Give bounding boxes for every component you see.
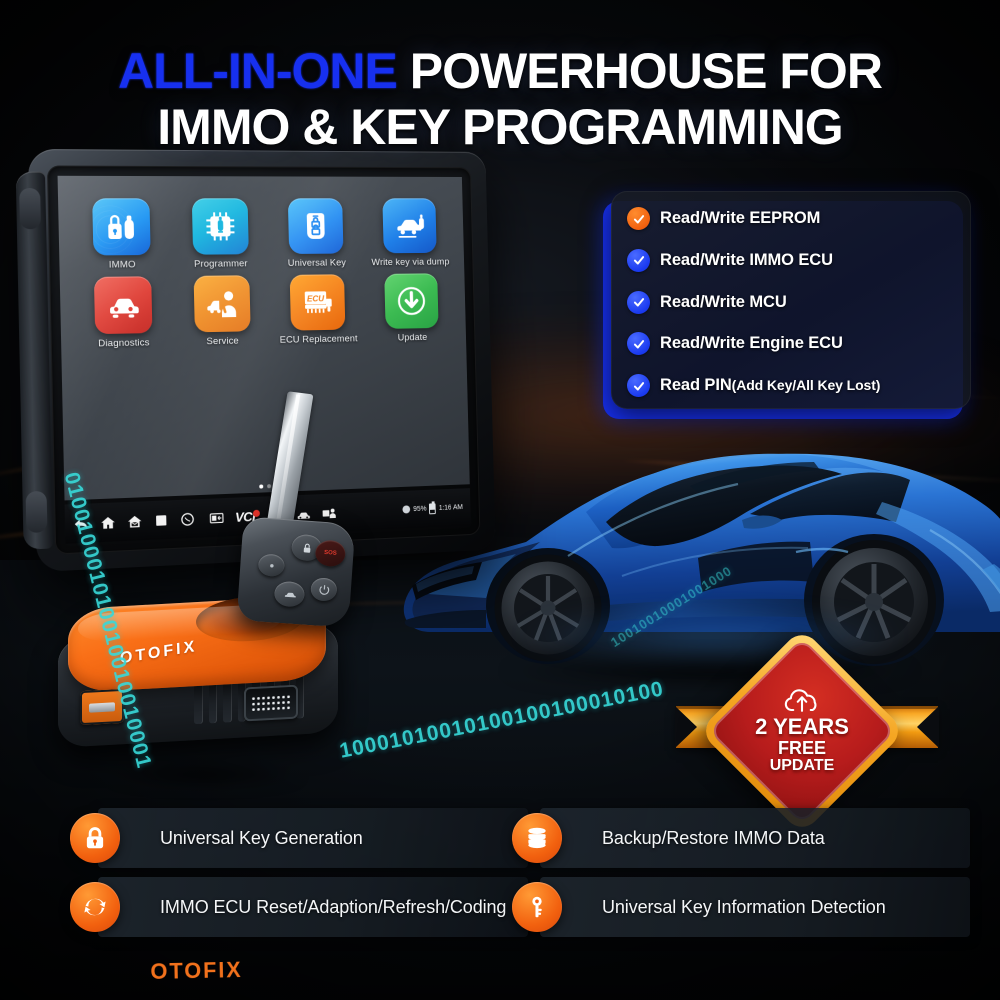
check-icon <box>627 374 650 397</box>
clock-label: 1:16 AM <box>439 504 463 512</box>
device-led-indicator <box>214 628 228 633</box>
feature-box-backup-restore-immo-data: Backup/Restore IMMO Data <box>540 808 970 868</box>
check-icon <box>627 249 650 272</box>
home-icon[interactable] <box>100 514 116 530</box>
battery-icon <box>429 503 436 514</box>
badge-diamond-body <box>709 638 896 825</box>
navbar-left-group <box>73 511 195 532</box>
feature-box-label: Universal Key Generation <box>160 828 363 848</box>
fob-remote-start-button[interactable] <box>310 577 338 602</box>
capability-label-main: Read PIN <box>660 376 732 394</box>
capability-label: Read/Write MCU <box>660 293 787 312</box>
capability-item: Read PIN(Add Key/All Key Lost) <box>627 374 957 397</box>
bottom-feature-grid: Universal Key Generation Backup/Restore … <box>98 808 970 958</box>
capability-item: Read/Write IMMO ECU <box>627 249 957 272</box>
shield-icon[interactable] <box>180 511 195 527</box>
database-icon <box>512 813 562 863</box>
fob-unlock-button[interactable] <box>258 553 285 577</box>
capability-label: Read/Write IMMO ECU <box>660 251 833 270</box>
capability-item: Read/Write EEPROM <box>627 207 957 230</box>
svg-text:ECU: ECU <box>307 293 325 303</box>
panel-card: Read/Write EEPROM Read/Write IMMO ECU Re… <box>611 191 971 409</box>
app-write-key-via-dump[interactable]: Write key via dump <box>366 198 453 268</box>
app-service[interactable]: Service <box>176 275 267 348</box>
check-icon <box>627 291 650 314</box>
padlock-icon <box>70 813 120 863</box>
capability-item: Read/Write MCU <box>627 291 957 314</box>
battery-percent-label: 95% <box>413 505 426 512</box>
app-label: Programmer <box>176 258 266 270</box>
capability-item: Read/Write Engine ECU <box>627 332 957 355</box>
app-immo[interactable]: IMMO <box>75 198 168 271</box>
feature-box-immo-ecu-reset: IMMO ECU Reset/Adaption/Refresh/Coding <box>98 877 528 937</box>
camera-toggle-icon[interactable] <box>209 510 224 526</box>
key-fob-head: SOS <box>237 516 356 628</box>
app-grid: IMMO <box>75 198 455 350</box>
app-label: Universal Key <box>273 257 360 269</box>
feature-box-label: IMMO ECU Reset/Adaption/Refresh/Coding <box>160 897 506 917</box>
refresh-cycle-icon <box>70 882 120 932</box>
capability-label: Read PIN(Add Key/All Key Lost) <box>660 376 880 395</box>
app-programmer[interactable]: Programmer <box>174 198 265 270</box>
headline-line1-rest: POWERHOUSE FOR <box>410 43 882 99</box>
back-arrow-icon[interactable] <box>73 515 89 531</box>
capability-panel: Read/Write EEPROM Read/Write IMMO ECU Re… <box>611 191 971 409</box>
navbar-status-group: 95% 1:16 AM <box>403 502 463 515</box>
car-key-write-icon <box>382 198 436 253</box>
check-icon <box>627 332 650 355</box>
headline-line2: IMMO & KEY PROGRAMMING <box>0 104 1000 152</box>
app-label: ECU Replacement <box>275 333 362 346</box>
key-icon <box>512 882 562 932</box>
promo-banner: ALL-IN-ONE POWERHOUSE FOR IMMO & KEY PRO… <box>0 0 1000 1000</box>
app-label: Service <box>178 335 268 348</box>
device-shadow <box>62 758 347 792</box>
recent-apps-icon[interactable] <box>153 512 169 528</box>
device-brand-label: OTOFIX <box>120 638 198 668</box>
capability-label-sub: (Add Key/All Key Lost) <box>732 377 881 393</box>
capability-label: Read/Write EEPROM <box>660 209 820 228</box>
app-universal-key[interactable]: Universal Key <box>272 198 361 269</box>
chip-key-icon <box>191 198 248 254</box>
db15-connector-port[interactable] <box>244 685 298 722</box>
gear-icon <box>403 505 411 513</box>
fob-trunk-button[interactable] <box>274 581 306 608</box>
app-update[interactable]: Update <box>368 273 455 344</box>
car-front-icon <box>94 276 153 334</box>
app-label: Write key via dump <box>368 257 453 269</box>
free-update-badge: 2 YEARS FREE UPDATE <box>676 650 938 800</box>
fob-panic-button[interactable]: SOS <box>315 539 347 567</box>
usb-port[interactable] <box>80 689 124 725</box>
feature-box-label: Backup/Restore IMMO Data <box>602 828 825 848</box>
mail-icon[interactable] <box>127 513 143 529</box>
app-diagnostics[interactable]: Diagnostics <box>76 276 169 350</box>
headline-accent: ALL-IN-ONE <box>118 43 397 99</box>
universal-key-icon <box>288 198 344 254</box>
feature-box-universal-key-generation: Universal Key Generation <box>98 808 528 868</box>
feature-box-universal-key-info-detection: Universal Key Information Detection <box>540 877 970 937</box>
feature-box-label: Universal Key Information Detection <box>602 897 886 917</box>
app-ecu-replacement[interactable]: ECU ECU Replacemen <box>273 274 362 346</box>
download-arrow-icon <box>384 273 438 329</box>
tablet-brand-logo: OTOFIX <box>150 957 243 985</box>
ecu-module-icon: ECU <box>290 274 346 330</box>
app-label: IMMO <box>76 259 168 271</box>
capability-label: Read/Write Engine ECU <box>660 334 843 353</box>
app-label: Update <box>370 332 455 344</box>
headline: ALL-IN-ONE POWERHOUSE FOR IMMO & KEY PRO… <box>0 48 1000 151</box>
technician-car-icon <box>193 275 250 332</box>
car-key-fob: SOS <box>232 392 358 624</box>
app-label: Diagnostics <box>78 337 170 350</box>
check-icon <box>627 207 650 230</box>
immo-lock-key-icon <box>92 198 151 255</box>
